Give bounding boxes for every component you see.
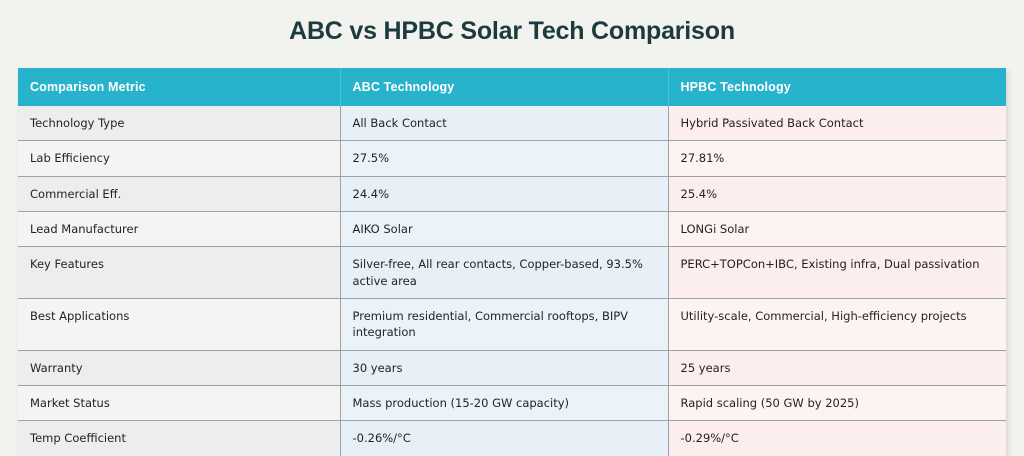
table-row: Commercial Eff.24.4%25.4% (18, 176, 1006, 211)
cell-abc: Silver-free, All rear contacts, Copper-b… (340, 247, 668, 299)
cell-hpbc: Utility-scale, Commercial, High-efficien… (668, 298, 1006, 350)
cell-abc: Mass production (15-20 GW capacity) (340, 385, 668, 420)
column-header-abc: ABC Technology (340, 68, 668, 106)
cell-metric: Key Features (18, 247, 340, 299)
table-row: Warranty30 years25 years (18, 350, 1006, 385)
cell-hpbc: -0.29%/°C (668, 421, 1006, 456)
cell-metric: Market Status (18, 385, 340, 420)
column-header-metric: Comparison Metric (18, 68, 340, 106)
cell-hpbc: 25.4% (668, 176, 1006, 211)
cell-abc: -0.26%/°C (340, 421, 668, 456)
cell-metric: Temp Coefficient (18, 421, 340, 456)
cell-metric: Commercial Eff. (18, 176, 340, 211)
table-row: Technology TypeAll Back ContactHybrid Pa… (18, 106, 1006, 141)
cell-hpbc: Rapid scaling (50 GW by 2025) (668, 385, 1006, 420)
cell-hpbc: Hybrid Passivated Back Contact (668, 106, 1006, 141)
table-row: Lead ManufacturerAIKO SolarLONGi Solar (18, 211, 1006, 246)
table-body: Technology TypeAll Back ContactHybrid Pa… (18, 106, 1006, 456)
table-row: Lab Efficiency27.5%27.81% (18, 141, 1006, 176)
cell-abc: Premium residential, Commercial rooftops… (340, 298, 668, 350)
cell-abc: 24.4% (340, 176, 668, 211)
table-header: Comparison Metric ABC Technology HPBC Te… (18, 68, 1006, 106)
cell-hpbc: 27.81% (668, 141, 1006, 176)
cell-metric: Best Applications (18, 298, 340, 350)
table-header-row: Comparison Metric ABC Technology HPBC Te… (18, 68, 1006, 106)
comparison-page: ABC vs HPBC Solar Tech Comparison Compar… (0, 0, 1024, 450)
table-row: Best ApplicationsPremium residential, Co… (18, 298, 1006, 350)
cell-hpbc: LONGi Solar (668, 211, 1006, 246)
comparison-table: Comparison Metric ABC Technology HPBC Te… (18, 68, 1006, 456)
table-row: Temp Coefficient-0.26%/°C-0.29%/°C (18, 421, 1006, 456)
column-header-hpbc: HPBC Technology (668, 68, 1006, 106)
cell-abc: AIKO Solar (340, 211, 668, 246)
cell-hpbc: PERC+TOPCon+IBC, Existing infra, Dual pa… (668, 247, 1006, 299)
cell-metric: Warranty (18, 350, 340, 385)
cell-abc: 30 years (340, 350, 668, 385)
cell-metric: Lead Manufacturer (18, 211, 340, 246)
cell-hpbc: 25 years (668, 350, 1006, 385)
table-row: Market StatusMass production (15-20 GW c… (18, 385, 1006, 420)
cell-abc: All Back Contact (340, 106, 668, 141)
table-row: Key FeaturesSilver-free, All rear contac… (18, 247, 1006, 299)
page-title: ABC vs HPBC Solar Tech Comparison (0, 0, 1024, 46)
cell-metric: Technology Type (18, 106, 340, 141)
cell-metric: Lab Efficiency (18, 141, 340, 176)
comparison-table-container: Comparison Metric ABC Technology HPBC Te… (18, 68, 1006, 456)
cell-abc: 27.5% (340, 141, 668, 176)
